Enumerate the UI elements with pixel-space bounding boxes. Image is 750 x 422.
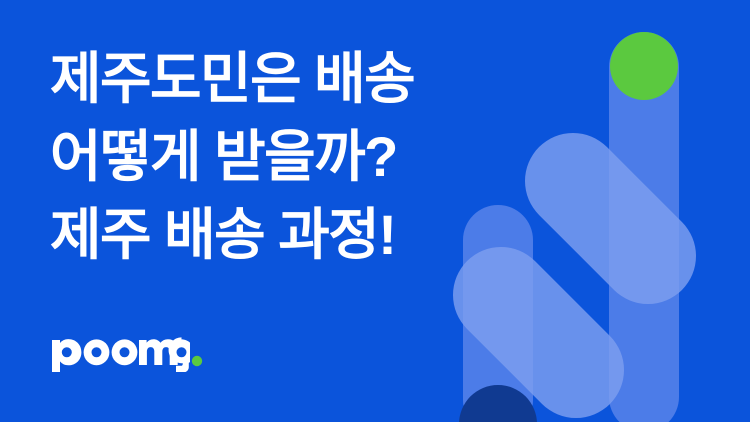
- headline-line-3: 제주 배송 과정!: [50, 196, 450, 274]
- poomgo-wordmark: [50, 330, 190, 372]
- diagonal-capsule-lower: [501, 295, 576, 370]
- logo-letter-o1-counter: [92, 347, 102, 357]
- cap-circle-navy: [459, 385, 537, 422]
- headline-line-2: 어떻게 받을까?: [50, 118, 450, 196]
- logo-letter-o2-counter: [120, 347, 130, 357]
- headline-line-1: 제주도민은 배송: [50, 40, 450, 118]
- cap-circle-green: [610, 32, 678, 100]
- diagonal-capsule-upper: [573, 181, 648, 256]
- vertical-capsules-group: [463, 32, 679, 422]
- vertical-capsule-right: [609, 32, 679, 422]
- diagonal-capsules-group: [501, 181, 648, 370]
- logo-dot: [190, 330, 206, 372]
- thumbnail-canvas: 제주도민은 배송 어떻게 받을까? 제주 배송 과정!: [0, 0, 750, 422]
- logo-letter-g: [169, 337, 190, 372]
- logo-letter-p: [52, 339, 81, 372]
- page-title: 제주도민은 배송 어떻게 받을까? 제주 배송 과정!: [50, 40, 450, 274]
- vertical-capsule-left: [463, 205, 533, 422]
- poomgo-logo: [50, 330, 206, 372]
